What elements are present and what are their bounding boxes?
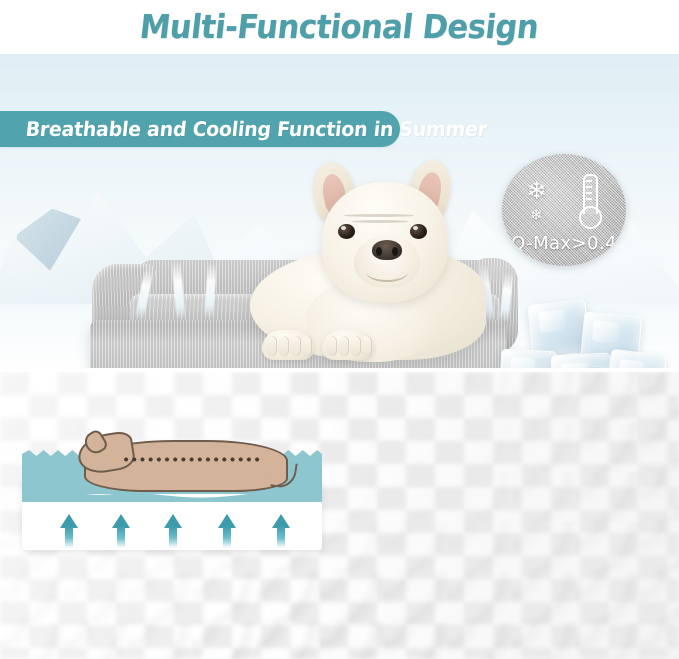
support-arrow-icon	[60, 514, 78, 548]
cooling-panel: 🐕🐕 COZY BED	[0, 54, 679, 368]
ice-cubes-group	[496, 300, 666, 368]
ice-cube-icon	[499, 349, 558, 368]
snowflake-small-icon: ❄	[530, 208, 543, 223]
ice-cube-icon	[551, 352, 614, 368]
banner-cooling-label: Breathable and Cooling Function in Summe…	[11, 117, 488, 141]
banner-cooling: Breathable and Cooling Function in Summe…	[0, 111, 400, 147]
silhouette-ear	[81, 428, 109, 457]
page-title-bar: Multi-Functional Design	[0, 0, 679, 52]
snowflake-large-icon: ❄	[526, 178, 547, 203]
dog-eye-right	[410, 224, 427, 239]
spinal-support-diagram	[22, 420, 322, 550]
spine-dotted-line	[122, 456, 262, 463]
support-arrow-icon	[164, 514, 182, 548]
thermometer-icon	[578, 174, 598, 228]
page-title: Multi-Functional Design	[138, 7, 541, 46]
dog-paw-right	[322, 330, 374, 360]
dog-silhouette	[78, 434, 290, 496]
dog-mouth	[366, 262, 408, 282]
french-bulldog-photo	[248, 158, 508, 368]
support-arrow-icon	[272, 514, 290, 548]
dog-nose	[372, 240, 402, 260]
product-infographic: Multi-Functional Design 🐕🐕 COZY BED	[0, 0, 679, 659]
support-arrow-icon	[112, 514, 130, 548]
qmax-label: Q-Max>0.4	[502, 233, 626, 254]
dog-eye-left	[338, 224, 355, 239]
dog-paw-left	[262, 330, 314, 360]
badge-icon-row: ❄ ❄	[502, 168, 626, 226]
support-arrow-icon	[218, 514, 236, 548]
ice-cube-icon	[605, 349, 667, 368]
qmax-badge: ❄ ❄ Q-Max>0.4	[502, 154, 626, 266]
